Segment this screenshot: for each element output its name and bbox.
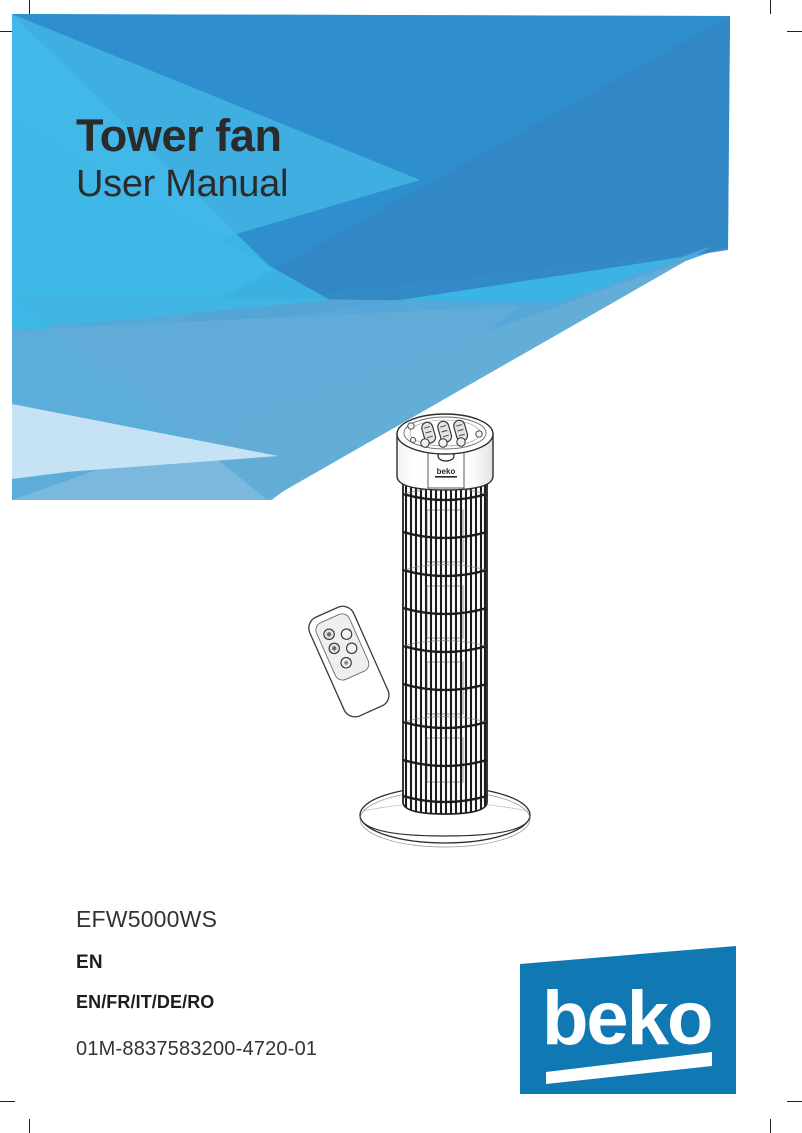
crop-bottom-left-vertical (29, 1119, 30, 1133)
control-button-power[interactable] (408, 423, 414, 429)
control-button-timer[interactable] (476, 431, 482, 437)
fan-control-panel (397, 414, 493, 454)
control-button-1[interactable] (421, 439, 429, 447)
body-brand-badge: beko (437, 467, 456, 476)
cover-title-block: Tower fan User Manual (76, 112, 496, 205)
remote-control[interactable] (305, 602, 393, 720)
product-illustration: beko (285, 390, 565, 880)
page-subtitle: User Manual (76, 163, 496, 206)
brand-logo: beko (516, 944, 740, 1096)
control-button-2[interactable] (439, 439, 447, 447)
crop-bottom-left-horizontal (0, 1101, 15, 1102)
footer-info-block: EFW5000WS EN EN/FR/IT/DE/RO 01M-88375832… (76, 906, 476, 1061)
fan-grille (403, 476, 487, 816)
document-number: 01M-8837583200-4720-01 (76, 1038, 476, 1061)
language-list: EN/FR/IT/DE/RO (76, 992, 476, 1013)
tower-fan-unit: beko (360, 414, 530, 847)
crop-bottom-right-horizontal (787, 1101, 802, 1102)
brand-logo-text: beko (542, 976, 711, 1061)
page-title: Tower fan (76, 112, 496, 161)
manual-cover-page: Tower fan User Manual (0, 0, 802, 1133)
model-code: EFW5000WS (76, 906, 476, 933)
crop-bottom-right-vertical (770, 1119, 771, 1133)
control-button-mode[interactable] (410, 437, 415, 442)
control-button-3[interactable] (457, 438, 465, 446)
language-primary: EN (76, 952, 476, 974)
